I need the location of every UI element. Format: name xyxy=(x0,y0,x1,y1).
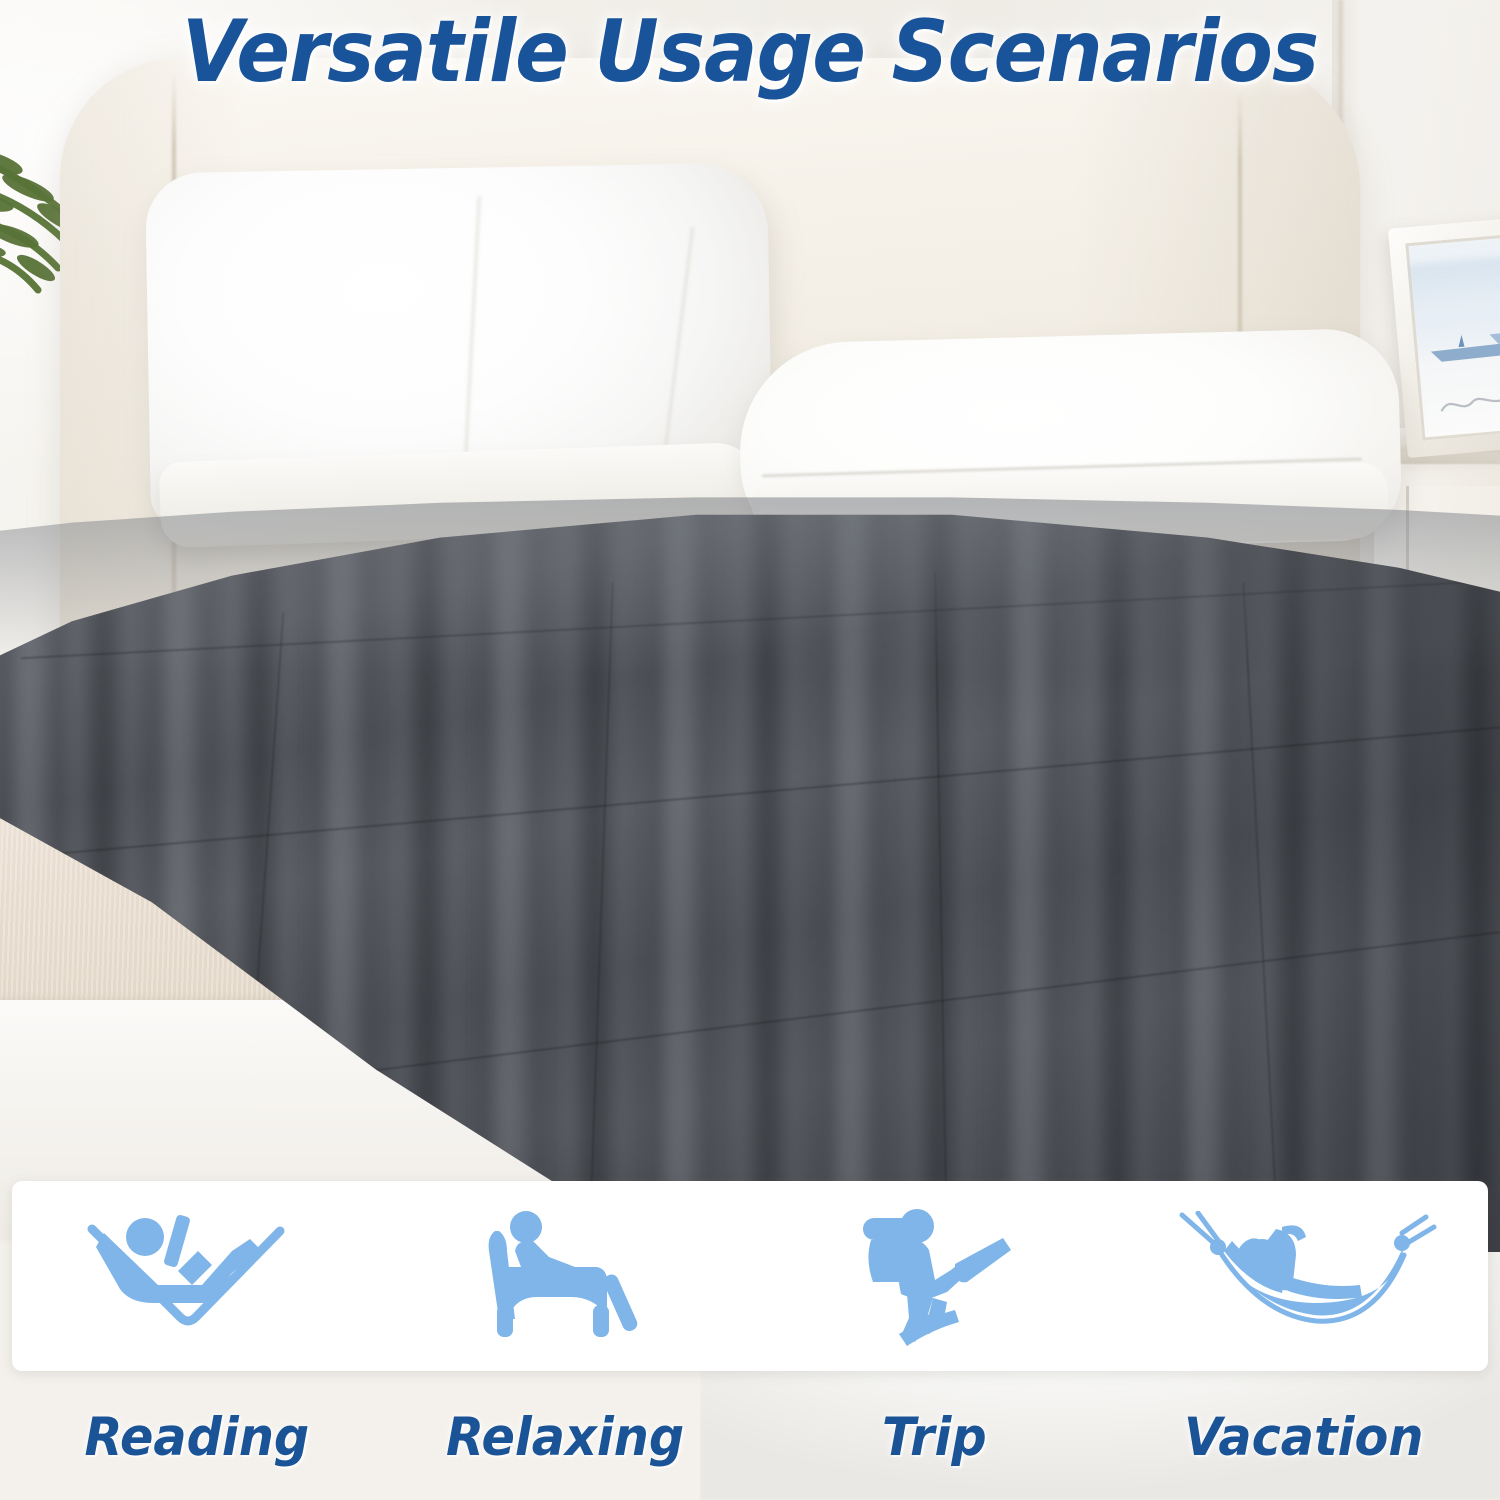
usage-scenario-icon-card xyxy=(12,1181,1488,1371)
usage-scenario-labels: Reading Relaxing Trip Vacation xyxy=(12,1394,1488,1480)
picture-frame xyxy=(1388,216,1500,458)
scenario-icon-relaxing xyxy=(381,1181,750,1371)
person-in-hammock-icon xyxy=(1164,1211,1444,1341)
artwork-sky xyxy=(1407,255,1500,315)
label-reading: Reading xyxy=(84,1407,309,1468)
artwork-signature xyxy=(1432,383,1500,422)
label-relaxing: Relaxing xyxy=(446,1407,684,1468)
person-relaxing-in-chair-icon xyxy=(471,1211,661,1341)
page-title: Versatile Usage Scenarios xyxy=(60,2,1440,102)
label-trip: Trip xyxy=(882,1407,987,1468)
label-cell-reading: Reading xyxy=(12,1407,381,1468)
person-reading-reclining-icon xyxy=(82,1211,312,1341)
hiker-with-backpack-icon xyxy=(855,1206,1015,1346)
label-vacation: Vacation xyxy=(1184,1407,1423,1468)
scenario-icon-vacation xyxy=(1119,1181,1488,1371)
scenario-icon-trip xyxy=(750,1181,1119,1371)
scenario-icon-reading xyxy=(12,1181,381,1371)
label-cell-relaxing: Relaxing xyxy=(381,1407,750,1468)
picture-artwork xyxy=(1405,233,1500,440)
label-cell-vacation: Vacation xyxy=(1119,1407,1488,1468)
product-feature-image: Versatile Usage Scenarios xyxy=(0,0,1500,1500)
label-cell-trip: Trip xyxy=(750,1407,1119,1468)
boat-illustration-secondary-icon xyxy=(1487,319,1500,346)
